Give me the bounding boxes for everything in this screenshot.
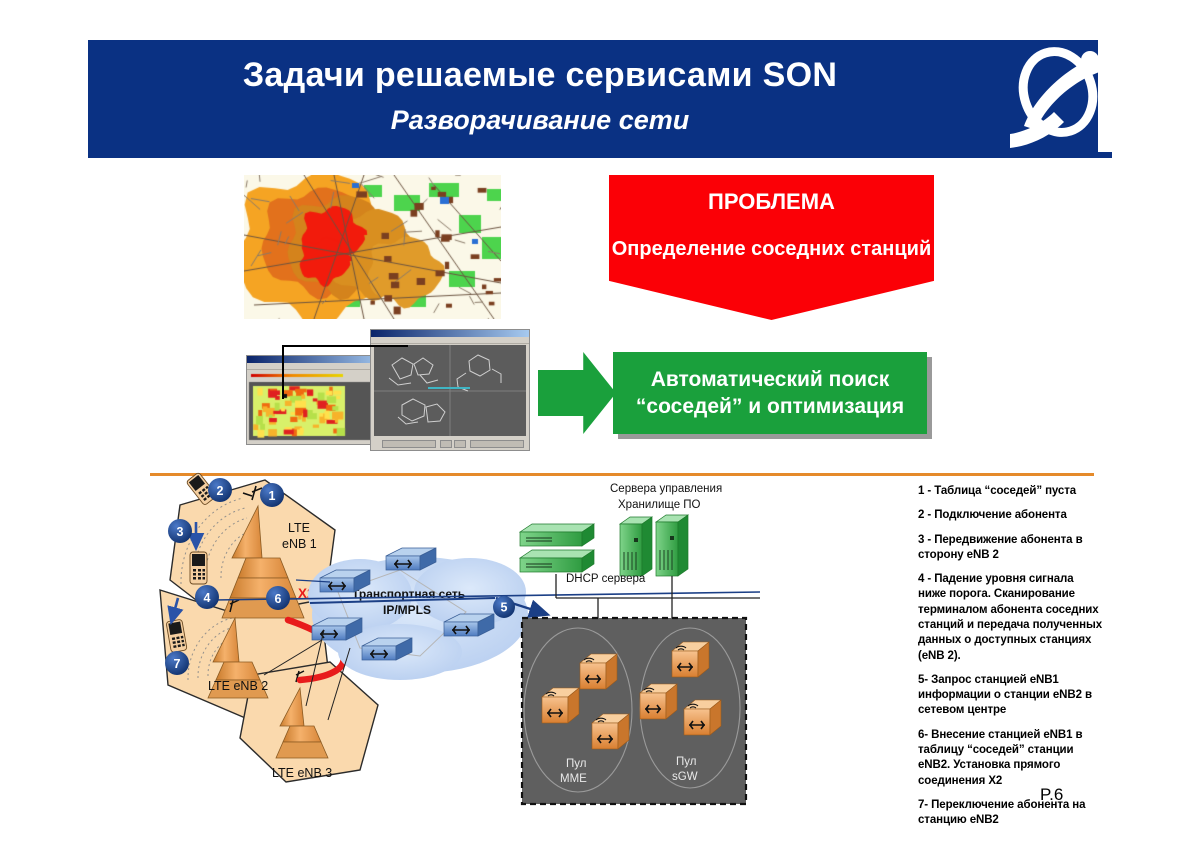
step-marker-2: 2 [208, 478, 232, 502]
coverage-heatmap-image [244, 175, 501, 319]
step-marker-6: 6 [266, 586, 290, 610]
legend-item: 7- Переключение абонента на станцию eNB2 [918, 798, 1104, 829]
cloud-label-line2: IP/MPLS [383, 603, 431, 617]
toolbar-button[interactable] [382, 440, 436, 448]
step-marker-7: 7 [165, 651, 189, 675]
tool-window-back [246, 355, 388, 445]
svg-text:3: 3 [177, 525, 184, 539]
callout-line [282, 345, 408, 347]
cell-label-enb1-line1: LTE [288, 521, 310, 535]
cell-label-enb3: LTE eNB 3 [272, 766, 332, 780]
server-label-management: Сервера управления [610, 483, 722, 495]
legend-item: 6- Внесение станцией eNB1 в таблицу “сос… [918, 728, 1104, 789]
svg-text:5: 5 [501, 601, 508, 615]
problem-title: ПРОБЛЕМА [609, 189, 934, 215]
legend-item: 2 - Подключение абонента [918, 508, 1104, 523]
page-title: Задачи решаемые сервисами SON [100, 56, 980, 95]
pool-mme-label-line2: MME [560, 773, 587, 785]
heatmap-canvas [247, 370, 385, 443]
pool-sgw-label-line1: Пул [676, 756, 696, 768]
toolbar-button[interactable] [440, 440, 452, 448]
svg-text:7: 7 [174, 657, 181, 671]
svg-text:1: 1 [269, 489, 276, 503]
pool-sgw-label-line2: sGW [672, 771, 698, 783]
toolbar-button[interactable] [454, 440, 466, 448]
svg-text:6: 6 [275, 592, 282, 606]
legend-item: 1 - Таблица “соседей” пуста [918, 484, 1104, 499]
dhcp-servers [520, 524, 594, 572]
pool-mme-label-line1: Пул [566, 758, 586, 770]
solution-text: Автоматический поиск “соседей” и оптимиз… [613, 366, 927, 421]
window-titlebar [371, 330, 529, 337]
callout-line [282, 345, 284, 399]
step-marker-4: 4 [195, 585, 219, 609]
management-servers [620, 515, 688, 576]
step-marker-1: 1 [260, 483, 284, 507]
page-subtitle: Разворачивание сети [100, 105, 980, 136]
orbit-logo-icon [1002, 30, 1112, 162]
server-label-dhcp: DHCP сервера [566, 573, 646, 585]
legend-item: 4 - Падение уровня сигнала ниже порога. … [918, 572, 1104, 664]
planning-tool-screenshot [240, 327, 530, 453]
problem-text: Определение соседних станций [609, 237, 934, 263]
legend-list: 1 - Таблица “соседей” пуста 2 - Подключе… [918, 484, 1104, 837]
window-menubar [247, 363, 387, 370]
diagram-canvas [374, 345, 526, 436]
solution-callout: Автоматический поиск “соседей” и оптимиз… [613, 352, 927, 434]
right-arrow-icon [538, 352, 616, 434]
tool-window-front [370, 329, 530, 451]
window-titlebar [247, 356, 387, 363]
step-marker-3: 3 [168, 519, 192, 543]
toolbar-button[interactable] [470, 440, 524, 448]
window-statusbar [374, 438, 526, 448]
svg-text:4: 4 [204, 591, 211, 605]
handset-2 [190, 552, 207, 584]
step-marker-5: 5 [493, 596, 515, 618]
server-label-storage: Хранилище ПО [618, 499, 701, 511]
problem-callout: ПРОБЛЕМА Определение соседних станций [609, 175, 934, 320]
svg-text:2: 2 [217, 484, 224, 498]
page-number: P.6 [1040, 785, 1063, 805]
legend-item: 5- Запрос станцией eNB1 информации о ста… [918, 673, 1104, 719]
cell-label-enb2: LTE eNB 2 [208, 679, 268, 693]
cell-label-enb1-line2: eNB 1 [282, 537, 317, 551]
window-menubar [371, 337, 529, 344]
legend-item: 3 - Передвижение абонента в сторону eNB … [918, 533, 1104, 564]
